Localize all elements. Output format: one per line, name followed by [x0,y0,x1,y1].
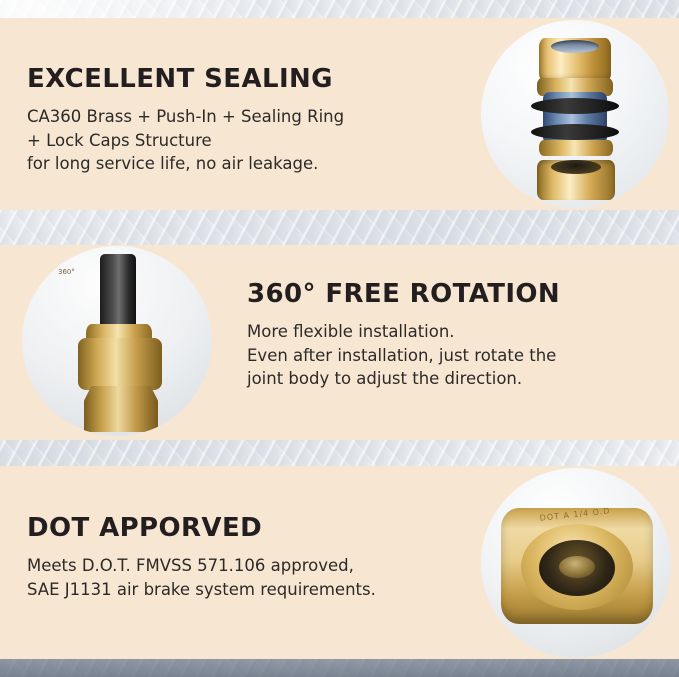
body-line-sealing-3: for long service life, no air leakage. [27,152,457,175]
feature-text-rotation: 360° FREE ROTATION More flexible install… [247,281,662,391]
brass-band-lower [539,140,613,156]
cap-bore [551,40,599,53]
push-in-fitting-exploded-photo [481,20,669,208]
hex-nut [84,386,158,432]
body-line-rotation-2: Even after installation, just rotate the [247,344,662,367]
fitting-bore [559,556,595,578]
brass-body-bore [551,160,601,174]
headline-rotation: 360° FREE ROTATION [247,281,662,308]
rotating-joint-with-black-tube-photo: 360° [22,246,212,436]
dot-stamped-fitting-photo: DOT A 1/4 O.D [481,468,671,658]
body-line-sealing-1: CA360 Brass + Push-In + Sealing Ring [27,105,457,128]
headline-dot: DOT APPORVED [27,515,467,542]
feature-text-sealing: EXCELLENT SEALING CA360 Brass + Push-In … [27,66,457,176]
body-line-rotation-1: More flexible installation. [247,320,662,343]
body-line-dot-2: SAE J1131 air brake system requirements. [27,578,467,601]
rotation-angle-label: 360° [58,268,75,276]
product-feature-infographic: EXCELLENT SEALING CA360 Brass + Push-In … [0,0,679,677]
sealing-ring-lower [531,124,619,140]
headline-sealing: EXCELLENT SEALING [27,66,457,93]
sealing-ring-upper [531,98,619,114]
joint-body [78,338,162,390]
body-line-dot-1: Meets D.O.T. FMVSS 571.106 approved, [27,554,467,577]
body-line-sealing-2: + Lock Caps Structure [27,129,457,152]
body-line-rotation-3: joint body to adjust the direction. [247,367,662,390]
feature-text-dot: DOT APPORVED Meets D.O.T. FMVSS 571.106 … [27,515,467,601]
